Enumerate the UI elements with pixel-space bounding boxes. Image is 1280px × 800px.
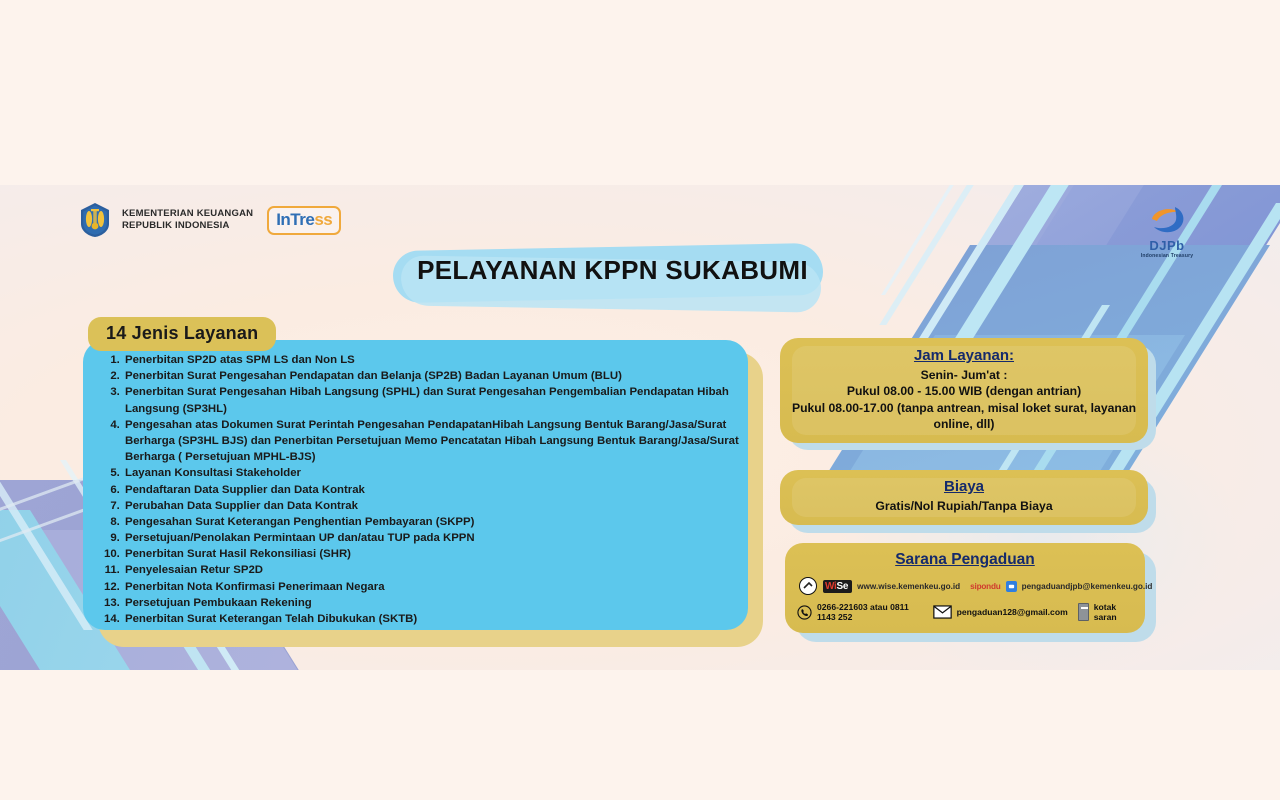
djpb-tagline: Indonesian Treasury <box>1112 253 1222 259</box>
services-badge: 14 Jenis Layanan <box>88 317 276 351</box>
header-logos: KEMENTERIAN KEUANGAN REPUBLIK INDONESIA … <box>78 202 341 238</box>
services-list: Penerbitan SP2D atas SPM LS dan Non LSPe… <box>95 352 763 627</box>
suggestion-box-channel: kotak saran <box>1078 602 1133 622</box>
intress-logo: InTress <box>267 206 341 235</box>
banner: KEMENTERIAN KEUANGAN REPUBLIK INDONESIA … <box>0 185 1280 670</box>
fee-content: Biaya Gratis/Nol Rupiah/Tanpa Biaya <box>788 478 1140 514</box>
wise-circle-icon <box>799 577 817 595</box>
hours-line-3: Pukul 08.00-17.00 (tanpa antrean, misal … <box>788 400 1140 433</box>
service-item: Penerbitan Surat Keterangan Telah Dibuku… <box>123 611 763 627</box>
phone-icon <box>797 605 812 620</box>
djpb-swoosh-icon <box>1144 205 1190 235</box>
service-item: Pengesahan atas Dokumen Surat Perintah P… <box>123 417 763 466</box>
sipondu-app-icon <box>1006 581 1017 592</box>
ministry-emblem-icon <box>78 202 112 238</box>
fee-card: Biaya Gratis/Nol Rupiah/Tanpa Biaya <box>780 470 1148 525</box>
djpb-logo: DJPb Indonesian Treasury <box>1112 205 1222 259</box>
kemenkeu-logo: KEMENTERIAN KEUANGAN REPUBLIK INDONESIA <box>78 202 253 238</box>
service-item: Persetujuan Pembukaan Rekening <box>123 595 763 611</box>
ministry-line-1: KEMENTERIAN KEUANGAN <box>122 208 253 220</box>
fee-heading: Biaya <box>788 478 1140 495</box>
wise-channel[interactable]: WiSe www.wise.kemenkeu.go.id <box>799 577 960 595</box>
email-address[interactable]: pengaduan128@gmail.com <box>957 607 1068 617</box>
wise-logo: WiSe <box>823 580 852 593</box>
fee-line: Gratis/Nol Rupiah/Tanpa Biaya <box>788 498 1140 514</box>
sipondu-channel[interactable]: sipondu pengaduandjpb@kemenkeu.go.id <box>970 581 1152 592</box>
email-channel[interactable]: pengaduan128@gmail.com <box>933 605 1068 619</box>
complaints-heading: Sarana Pengaduan <box>785 551 1145 569</box>
title-banner: PELAYANAN KPPN SUKABUMI <box>385 237 840 315</box>
djpb-name: DJPb <box>1112 238 1222 253</box>
service-item: Penerbitan Surat Pengesahan Pendapatan d… <box>123 368 763 384</box>
complaints-row-contact: 0266-221603 atau 0811 1143 252 pengaduan… <box>785 602 1145 622</box>
service-item: Penerbitan Surat Hasil Rekonsiliasi (SHR… <box>123 546 763 562</box>
service-item: Pengesahan Surat Keterangan Penghentian … <box>123 514 763 530</box>
hours-heading: Jam Layanan: <box>788 347 1140 364</box>
intress-logo-text: InTress <box>276 210 332 230</box>
phone-number[interactable]: 0266-221603 atau 0811 1143 252 <box>817 602 923 622</box>
hours-line-2: Pukul 08.00 - 15.00 WIB (dengan antrian) <box>788 383 1140 399</box>
service-item: Penyelesaian Retur SP2D <box>123 562 763 578</box>
ministry-name: KEMENTERIAN KEUANGAN REPUBLIK INDONESIA <box>122 208 253 232</box>
service-item: Penerbitan Surat Pengesahan Hibah Langsu… <box>123 384 763 416</box>
service-item: Persetujuan/Penolakan Permintaan UP dan/… <box>123 530 763 546</box>
suggestion-box-label: kotak saran <box>1094 602 1133 622</box>
complaints-row-online: WiSe www.wise.kemenkeu.go.id sipondu pen… <box>785 577 1145 595</box>
hours-card: Jam Layanan: Senin- Jum'at : Pukul 08.00… <box>780 338 1148 443</box>
wise-url[interactable]: www.wise.kemenkeu.go.id <box>857 582 960 591</box>
complaints-content: Sarana Pengaduan WiSe www.wise.kemenkeu.… <box>785 551 1145 622</box>
service-item: Penerbitan Nota Konfirmasi Penerimaan Ne… <box>123 579 763 595</box>
band-top-right-9 <box>879 185 980 325</box>
service-item: Pendaftaran Data Supplier dan Data Kontr… <box>123 482 763 498</box>
band-bottom-left-6 <box>0 480 93 630</box>
band-top-right-11 <box>881 185 960 295</box>
sipondu-logo-text: sipondu <box>970 582 1000 591</box>
hours-content: Jam Layanan: Senin- Jum'at : Pukul 08.00… <box>788 347 1140 433</box>
service-item: Perubahan Data Supplier dan Data Kontrak <box>123 498 763 514</box>
infographic-page: KEMENTERIAN KEUANGAN REPUBLIK INDONESIA … <box>0 0 1280 800</box>
envelope-icon <box>933 605 952 619</box>
phone-channel[interactable]: 0266-221603 atau 0811 1143 252 <box>797 602 923 622</box>
suggestion-box-icon <box>1078 603 1089 621</box>
ministry-line-2: REPUBLIK INDONESIA <box>122 220 253 232</box>
hours-line-1: Senin- Jum'at : <box>788 367 1140 383</box>
sipondu-email[interactable]: pengaduandjpb@kemenkeu.go.id <box>1022 582 1153 591</box>
service-item: Layanan Konsultasi Stakeholder <box>123 465 763 481</box>
page-title: PELAYANAN KPPN SUKABUMI <box>385 255 840 286</box>
wise-logo-text: WiSe <box>825 581 848 592</box>
service-item: Penerbitan SP2D atas SPM LS dan Non LS <box>123 352 763 368</box>
complaints-card: Sarana Pengaduan WiSe www.wise.kemenkeu.… <box>785 543 1145 633</box>
